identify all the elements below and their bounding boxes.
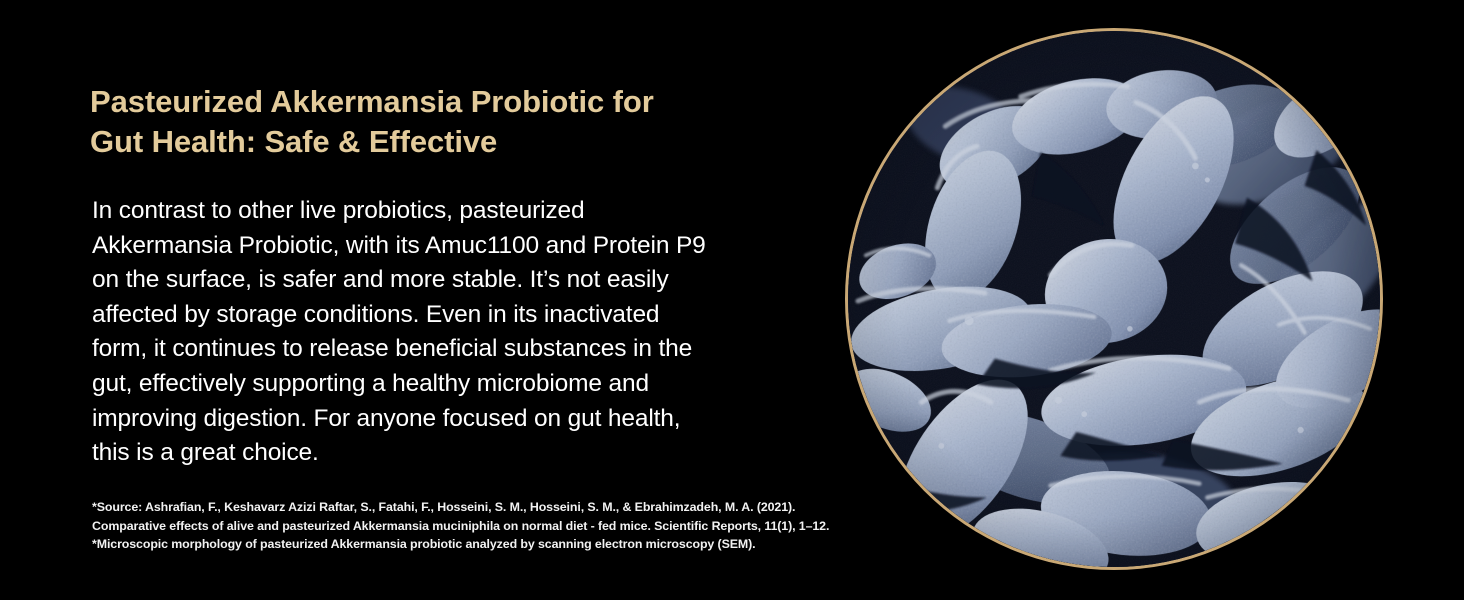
body-line-2: Akkermansia Probiotic, with its Amuc1100… [92,229,742,264]
body-paragraph: In contrast to other live probiotics, pa… [92,194,742,471]
body-line-6: gut, effectively supporting a healthy mi… [92,367,742,402]
sem-micrograph-image [848,31,1380,567]
text-column: Pasteurized Akkermansia Probiotic for Gu… [90,0,790,600]
headline-line-2: Gut Health: Safe & Effective [90,122,750,162]
sem-micrograph-frame [845,28,1383,570]
headline-line-1: Pasteurized Akkermansia Probiotic for [90,82,750,122]
body-line-3: on the surface, is safer and more stable… [92,263,742,298]
promo-banner: Pasteurized Akkermansia Probiotic for Gu… [0,0,1464,600]
body-line-7: improving digestion. For anyone focused … [92,402,742,437]
body-line-1: In contrast to other live probiotics, pa… [92,194,742,229]
body-line-5: form, it continues to release beneficial… [92,332,742,367]
page-title: Pasteurized Akkermansia Probiotic for Gu… [90,82,750,162]
body-line-4: affected by storage conditions. Even in … [92,298,742,333]
bacteria-illustration [848,31,1380,567]
body-line-8: this is a great choice. [92,436,742,471]
